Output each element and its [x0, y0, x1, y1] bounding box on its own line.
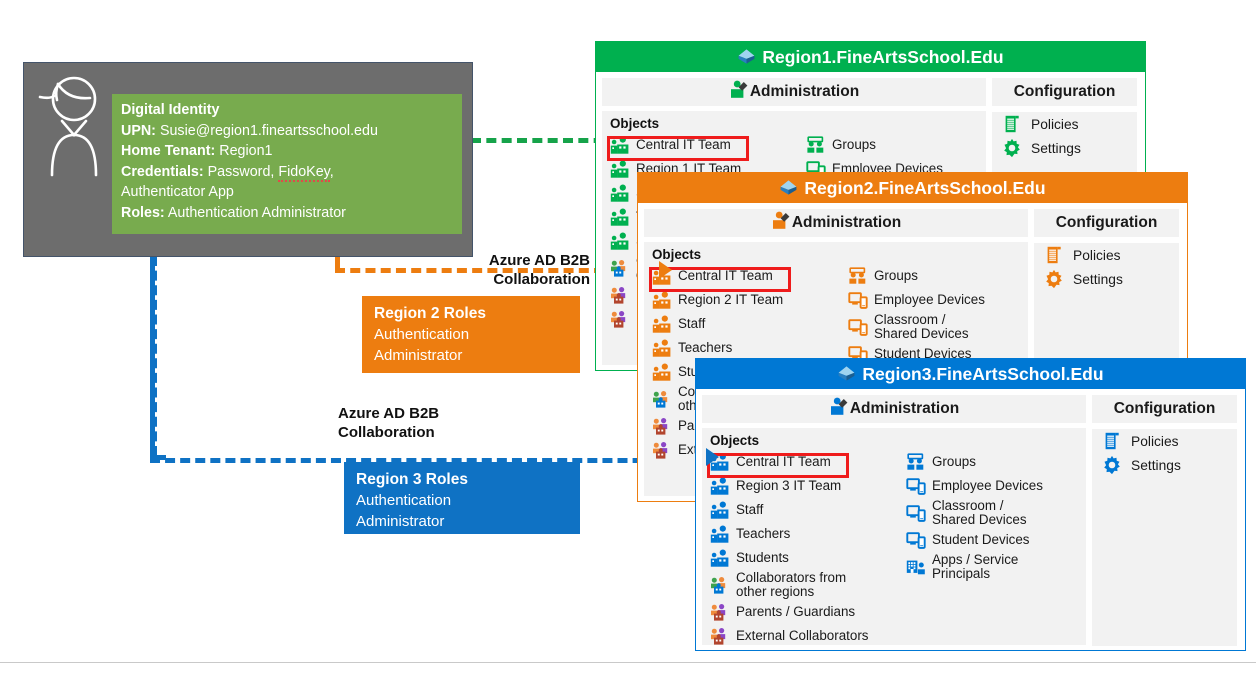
digital-identity-box: Digital IdentityUPN: Susie@region1.finea…: [112, 94, 462, 234]
collaborators-icon: [610, 258, 630, 278]
user-group-icon: [652, 314, 672, 334]
groups-icon: [806, 135, 826, 155]
connector-region3-vline: [152, 256, 157, 456]
object-item-label: Region 3 IT Team: [736, 479, 841, 494]
identity-field-label: Roles:: [121, 205, 165, 221]
devices-icon: [848, 290, 868, 310]
tenant-title-region3: Region3.FineArtsSchool.Edu: [696, 359, 1245, 389]
external-users-icon: [652, 416, 672, 436]
identity-field-label: UPN:: [121, 123, 156, 139]
config-item-settings[interactable]: Settings: [1092, 453, 1237, 477]
collaborators-icon: [710, 575, 730, 595]
identity-field-label: Credentials:: [121, 164, 204, 180]
config-item-policies[interactable]: Policies: [1092, 429, 1237, 453]
azure-ad-cube-icon: [837, 364, 856, 383]
tenant-body: AdministrationObjectsCentral IT TeamRegi…: [696, 389, 1245, 652]
object-item[interactable]: Students: [710, 546, 898, 570]
object-item-label: Staff: [678, 317, 705, 332]
config-item-label: Settings: [1073, 272, 1123, 287]
external-users-icon: [710, 626, 730, 646]
object-item[interactable]: Staff: [710, 498, 898, 522]
object-item-label: Teachers: [678, 341, 732, 356]
user-group-icon: [710, 500, 730, 520]
object-item[interactable]: Teachers: [652, 336, 840, 360]
object-item-label: Student Devices: [932, 533, 1030, 548]
admin-person-icon: [829, 396, 849, 416]
object-item-label: Classroom / Shared Devices: [932, 499, 1050, 528]
collaborators-icon: [652, 389, 672, 409]
central-it-team-highlight: [707, 453, 849, 478]
external-users-icon: [610, 285, 630, 305]
connector-region2-arrowhead: [659, 261, 672, 279]
object-item-label: External Collaborators: [736, 629, 868, 644]
policy-document-icon: [1002, 114, 1022, 134]
digital-identity-title: Digital Identity: [121, 100, 453, 121]
identity-field-value: Authenticator App: [121, 184, 234, 200]
apps-icon: [906, 557, 926, 577]
callout-region-2-roles: Region 2 RolesAuthenticationAdministrato…: [362, 296, 580, 373]
config-item-label: Policies: [1073, 248, 1121, 263]
b2b-label-line2: Collaboration: [470, 270, 590, 289]
diagram-canvas: Susie (Central IT team)Digital IdentityU…: [0, 0, 1256, 673]
objects-label: Objects: [644, 242, 1028, 264]
admin-person-icon: [729, 79, 749, 99]
callout-title: Region 2 Roles: [374, 303, 568, 324]
administration-header: Administration: [644, 209, 1028, 237]
groups-icon: [906, 452, 926, 472]
external-users-icon: [652, 440, 672, 460]
configuration-header-label: Configuration: [1014, 83, 1116, 100]
identity-field-value: Password, FidoKey,: [208, 164, 334, 182]
object-item[interactable]: Groups: [906, 450, 1068, 474]
callout-region-3-roles: Region 3 RolesAuthenticationAdministrato…: [344, 462, 580, 534]
config-item-policies[interactable]: Policies: [992, 112, 1137, 136]
gear-icon: [1102, 455, 1122, 475]
object-item[interactable]: Employee Devices: [848, 288, 1010, 312]
object-item-label: Staff: [736, 503, 763, 518]
user-group-icon: [652, 362, 672, 382]
persona-card: Susie (Central IT team)Digital IdentityU…: [23, 62, 473, 257]
user-group-icon: [710, 548, 730, 568]
callout-line: Authentication: [374, 324, 568, 345]
devices-icon: [906, 530, 926, 550]
objects-label: Objects: [702, 428, 1086, 450]
policy-document-icon: [1044, 245, 1064, 265]
tenant-title-label: Region1.FineArtsSchool.Edu: [762, 47, 1003, 67]
config-item-label: Settings: [1131, 458, 1181, 473]
configuration-header: Configuration: [1034, 209, 1179, 237]
config-item-policies[interactable]: Policies: [1034, 243, 1179, 267]
objects-label: Objects: [602, 111, 986, 133]
object-item-label: Groups: [874, 269, 918, 284]
object-item-label: Groups: [832, 138, 876, 153]
groups-icon: [848, 266, 868, 286]
config-item-settings[interactable]: Settings: [992, 136, 1137, 160]
objects-right-column: GroupsEmployee DevicesClassroom / Shared…: [898, 450, 1068, 648]
config-item-label: Policies: [1031, 117, 1079, 132]
object-item-label: Parents / Guardians: [736, 605, 855, 620]
user-group-icon: [610, 159, 630, 179]
b2b-label-line1: Azure AD B2B: [470, 251, 590, 270]
administration-column: AdministrationObjectsCentral IT TeamRegi…: [702, 395, 1086, 646]
administration-header-label: Administration: [750, 83, 859, 100]
object-item[interactable]: Classroom / Shared Devices: [848, 312, 1010, 342]
devices-icon: [848, 317, 868, 337]
user-group-icon: [652, 338, 672, 358]
user-group-icon: [610, 231, 630, 251]
admin-person-icon: [771, 210, 791, 230]
configuration-header-label: Configuration: [1114, 400, 1216, 417]
object-item-label: Groups: [932, 455, 976, 470]
objects-left-column: Central IT TeamRegion 3 IT TeamStaffTeac…: [702, 450, 898, 648]
object-item[interactable]: Apps / Service Principals: [906, 552, 1068, 582]
objects-panel: ObjectsCentral IT TeamRegion 3 IT TeamSt…: [702, 428, 1086, 645]
object-item[interactable]: Collaborators from other regions: [710, 570, 898, 600]
tenant-title-label: Region3.FineArtsSchool.Edu: [862, 364, 1103, 384]
tenant-title-region2: Region2.FineArtsSchool.Edu: [638, 173, 1187, 203]
central-it-team-highlight: [607, 136, 749, 161]
config-item-label: Settings: [1031, 141, 1081, 156]
tenant-title-label: Region2.FineArtsSchool.Edu: [804, 178, 1045, 198]
user-group-icon: [610, 183, 630, 203]
object-item[interactable]: Groups: [848, 264, 1010, 288]
object-item-label: Employee Devices: [874, 293, 985, 308]
object-item[interactable]: Student Devices: [906, 528, 1068, 552]
user-group-icon: [610, 207, 630, 227]
azure-ad-cube-icon: [779, 178, 798, 197]
object-item-label: Collaborators from other regions: [736, 571, 854, 600]
tenant-title-region1: Region1.FineArtsSchool.Edu: [596, 42, 1145, 72]
object-item-label: Apps / Service Principals: [932, 553, 1050, 582]
administration-header-label: Administration: [850, 400, 959, 417]
administration-header-label: Administration: [792, 214, 901, 231]
gear-icon: [1002, 138, 1022, 158]
object-item-label: Region 2 IT Team: [678, 293, 783, 308]
azure-ad-cube-icon: [737, 47, 756, 66]
identity-field-4: Roles: Authentication Administrator: [121, 203, 453, 224]
devices-icon: [906, 476, 926, 496]
object-item-label: Teachers: [736, 527, 790, 542]
b2b-label-region2: Azure AD B2BCollaboration: [470, 251, 590, 289]
administration-header: Administration: [602, 78, 986, 106]
external-users-icon: [710, 602, 730, 622]
object-item[interactable]: External Collaborators: [710, 624, 898, 648]
object-item-label: Students: [736, 551, 789, 566]
identity-field-label: Home Tenant:: [121, 143, 215, 159]
object-item[interactable]: Classroom / Shared Devices: [906, 498, 1068, 528]
object-item[interactable]: Staff: [652, 312, 840, 336]
object-item-label: Classroom / Shared Devices: [874, 313, 992, 342]
identity-field-3: Authenticator App: [121, 182, 453, 203]
callout-line: Administrator: [374, 345, 568, 366]
user-group-icon: [710, 476, 730, 496]
b2b-label-line1: Azure AD B2B: [338, 404, 439, 423]
callout-title: Region 3 Roles: [356, 469, 568, 490]
object-item[interactable]: Teachers: [710, 522, 898, 546]
object-item[interactable]: Employee Devices: [906, 474, 1068, 498]
identity-field-value: Susie@region1.fineartsschool.edu: [160, 123, 378, 139]
user-group-icon: [710, 524, 730, 544]
config-item-label: Policies: [1131, 434, 1179, 449]
user-group-icon: [652, 290, 672, 310]
object-item-label: Employee Devices: [932, 479, 1043, 494]
callout-line: Authentication: [356, 490, 568, 511]
tenant-panel-region3: Region3.FineArtsSchool.EduAdministration…: [695, 358, 1246, 651]
gear-icon: [1044, 269, 1064, 289]
callout-line: Administrator: [356, 511, 568, 532]
identity-field-2: Credentials: Password, FidoKey,: [121, 162, 453, 183]
identity-field-value: Region1: [219, 143, 272, 159]
person-avatar-icon: [38, 71, 110, 181]
configuration-column: ConfigurationPoliciesSettings: [1092, 395, 1237, 646]
devices-icon: [906, 503, 926, 523]
external-users-icon: [610, 309, 630, 329]
bottom-divider: [0, 662, 1256, 663]
policy-document-icon: [1102, 431, 1122, 451]
b2b-label-line2: Collaboration: [338, 423, 439, 442]
connector-region3-arrowhead: [706, 448, 719, 466]
b2b-label-region3: Azure AD B2BCollaboration: [338, 404, 439, 442]
configuration-header-label: Configuration: [1056, 214, 1158, 231]
identity-field-1: Home Tenant: Region1: [121, 141, 453, 162]
identity-field-value: Authentication Administrator: [168, 205, 346, 221]
config-item-settings[interactable]: Settings: [1034, 267, 1179, 291]
configuration-header: Configuration: [1092, 395, 1237, 423]
object-item[interactable]: Groups: [806, 133, 968, 157]
configuration-header: Configuration: [992, 78, 1137, 106]
administration-header: Administration: [702, 395, 1086, 423]
configuration-panel: PoliciesSettings: [1092, 429, 1237, 646]
identity-field-0: UPN: Susie@region1.fineartsschool.edu: [121, 121, 453, 142]
object-item[interactable]: Parents / Guardians: [710, 600, 898, 624]
